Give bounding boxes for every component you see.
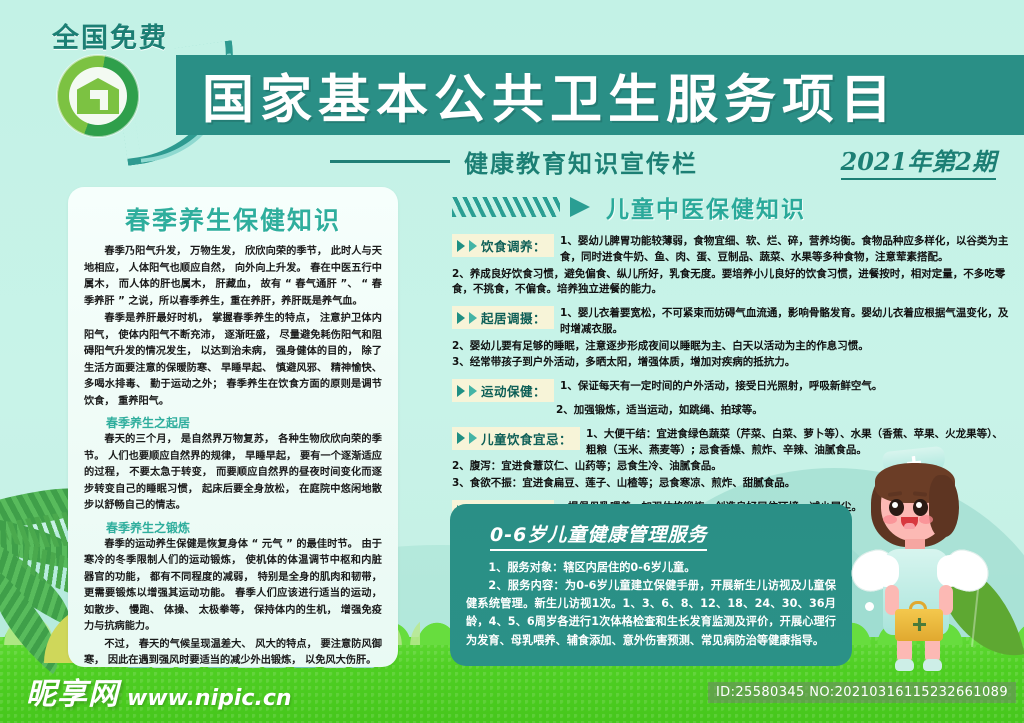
child-health-service-box: 0-6岁儿童健康管理服务 1、服务对象：辖区内居住的0-6岁儿童。 2、服务内容… <box>450 504 852 666</box>
chevron-right-icon <box>469 385 477 397</box>
issue-label: 2021年第2期 <box>841 142 997 180</box>
page-title: 国家基本公共卫生服务项目 <box>202 58 898 133</box>
section-item: 2、加强锻炼，适当运动，如跳绳、拍球等。 <box>556 403 1012 419</box>
section-item: 2、养成良好饮食习惯，避免偏食、纵儿所好，乳食无度。要培养小儿良好的饮食习惯，进… <box>452 267 1012 299</box>
watermark-url: www.nipic.cn <box>127 686 292 713</box>
section-tag: 儿童饮食宜忌： <box>452 427 580 450</box>
section-item: 3、经常带孩子到户外活动，多晒太阳，增强体质，增加对疾病的抵抗力。 <box>452 355 1012 371</box>
shoe <box>923 659 942 671</box>
article-section-heading: 春季养生之锻炼 <box>106 519 382 536</box>
cheek-blush <box>883 515 897 524</box>
chevron-right-icon <box>457 240 465 252</box>
arrow-right-icon <box>570 197 590 217</box>
content-section: 运动保健： 1、保证每天有一定时间的户外活动，接受日光照射，呼吸新鲜空气。 2、… <box>452 379 1012 419</box>
stripes-decoration <box>452 197 560 217</box>
poster-canvas: 全国免费 国家基本公共卫生服务项目 健康教育知识宣传栏 2021年第2期 春季养… <box>0 0 1024 723</box>
section-header-row: 运动保健： 1、保证每天有一定时间的户外活动，接受日光照射，呼吸新鲜空气。 <box>452 379 1012 402</box>
section-first-item: 1、保证每天有一定时间的户外活动，接受日光照射，呼吸新鲜空气。 <box>560 379 1012 395</box>
article-paragraph: 春季乃阳气升发， 万物生发， 欣欣向荣的季节， 此时人与天地相应， 人体阳气也顺… <box>84 244 382 310</box>
left-article-title: 春季养生保健知识 <box>84 201 382 237</box>
article-paragraph: 春天的三个月， 是自然界万物复苏， 各种生物欣欣向荣的季节。 人们也要顺应自然界… <box>84 432 382 515</box>
content-section: 起居调摄： 1、婴儿衣着要宽松，不可紧束而妨碍气血流通，影响骨骼发育。婴幼儿衣着… <box>452 306 1012 371</box>
eye <box>889 499 904 516</box>
hair-side <box>929 475 959 537</box>
chevron-right-icon <box>469 312 477 324</box>
watermark: 昵享网 www.nipic.cn <box>26 669 292 713</box>
section-tag-label: 起居调摄： <box>481 308 546 327</box>
article-section-heading: 春季养生之起居 <box>106 414 382 431</box>
article-paragraph: 春季是养肝最好时机， 掌握春季养生的特点， 注意护卫体内阳气， 使体内阳气不断充… <box>84 311 382 410</box>
info-box-paragraph: 2、服务内容：为0-6岁儿童建立保健手册，开展新生儿访视及儿童保健系统管理。新生… <box>466 577 836 650</box>
chevron-right-icon <box>469 240 477 252</box>
chevron-right-icon <box>457 432 465 444</box>
sleeve <box>937 555 963 587</box>
eye <box>913 499 928 516</box>
content-section: 饮食调养： 1、婴幼儿脾胃功能较薄弱，食物宜细、软、烂、碎，营养均衡。食物品种应… <box>452 234 1012 298</box>
free-nationwide-tag: 全国免费 <box>52 16 168 55</box>
section-tag-label: 运动保健： <box>481 381 546 400</box>
page-subtitle: 健康教育知识宣传栏 <box>464 144 698 179</box>
right-section-title: 儿童中医保健知识 <box>606 190 806 224</box>
section-tag-label: 儿童饮食宜忌： <box>481 429 572 448</box>
image-id-strip: ID:25580345 NO:20210316115232661089 <box>708 682 1016 703</box>
sleeve <box>873 555 899 587</box>
title-banner: 国家基本公共卫生服务项目 <box>176 55 1024 135</box>
section-item: 2、婴幼儿要有足够的睡眠，注意逐步形成夜间以睡眠为主、白天以活动为主的作息习惯。 <box>452 339 1012 355</box>
subtitle-rule <box>330 160 450 163</box>
section-tag: 起居调摄： <box>452 306 554 329</box>
chevron-right-icon <box>457 385 465 397</box>
section-first-item: 1、婴儿衣着要宽松，不可紧束而妨碍气血流通，影响骨骼发育。婴幼儿衣着应根据气温变… <box>560 306 1012 338</box>
left-article-panel: 春季养生保健知识 春季乃阳气升发， 万物生发， 欣欣向荣的季节， 此时人与天地相… <box>68 187 398 667</box>
cheek-blush <box>919 515 933 524</box>
info-box-paragraph: 1、服务对象：辖区内居住的0-6岁儿童。 <box>466 559 836 577</box>
section-first-item: 1、婴幼儿脾胃功能较薄弱，食物宜细、软、烂、碎，营养均衡。食物品种应多样化，以谷… <box>560 234 1012 266</box>
section-tag: 运动保健： <box>452 379 554 402</box>
medical-kit-icon <box>895 609 943 641</box>
article-paragraph: 春季的运动养生保健是恢复身体 “ 元气 ” 的最佳时节。 由于寒冷的冬季限制人们… <box>84 537 382 636</box>
article-paragraph: 不过， 春天的气候呈现温差大、 风大的特点， 要注意防风御寒， 因此在遇到强风时… <box>84 637 382 667</box>
section-tag: 饮食调养： <box>452 234 554 257</box>
watermark-logo: 昵享网 <box>26 669 119 713</box>
info-box-title: 0-6岁儿童健康管理服务 <box>490 520 707 551</box>
section-header-row: 饮食调养： 1、婴幼儿脾胃功能较薄弱，食物宜细、软、烂、碎，营养均衡。食物品种应… <box>452 234 1012 266</box>
chevron-right-icon <box>469 432 477 444</box>
chevron-right-icon <box>457 312 465 324</box>
section-tag-label: 饮食调养： <box>481 236 546 255</box>
shoe <box>895 659 914 671</box>
subtitle-row: 健康教育知识宣传栏 <box>330 144 698 179</box>
right-title-row: 儿童中医保健知识 <box>452 190 1012 224</box>
section-header-row: 起居调摄： 1、婴儿衣着要宽松，不可紧束而妨碍气血流通，影响骨骼发育。婴幼儿衣着… <box>452 306 1012 338</box>
nurse-angel-illustration <box>845 447 995 672</box>
